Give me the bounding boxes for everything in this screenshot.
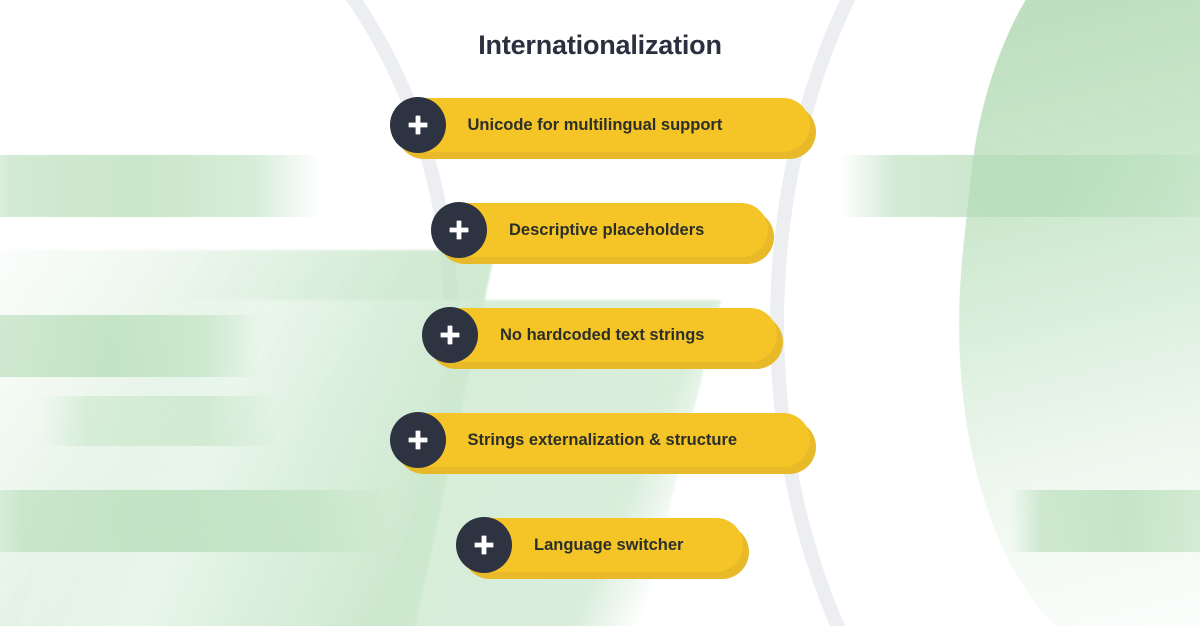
feature-label: No hardcoded text strings: [478, 326, 714, 345]
plus-icon[interactable]: [422, 307, 478, 363]
feature-pill-5[interactable]: Language switcher: [457, 518, 743, 572]
feature-pill-2[interactable]: Descriptive placeholders: [432, 203, 768, 257]
feature-pill-3[interactable]: No hardcoded text strings: [423, 308, 777, 362]
feature-list: Unicode for multilingual support: [0, 98, 1200, 623]
feature-label: Strings externalization & structure: [446, 431, 748, 450]
pill-body[interactable]: Unicode for multilingual support: [391, 98, 810, 152]
feature-label: Descriptive placeholders: [487, 221, 714, 240]
list-item: Language switcher: [0, 518, 1200, 623]
pill-body[interactable]: Language switcher: [457, 518, 743, 572]
feature-pill-4[interactable]: Strings externalization & structure: [391, 413, 810, 467]
infographic-slide: Internationalization Unicode for multili…: [0, 0, 1200, 626]
list-item: No hardcoded text strings: [0, 308, 1200, 413]
feature-label: Language switcher: [512, 536, 693, 555]
plus-icon[interactable]: [390, 412, 446, 468]
pill-body[interactable]: Strings externalization & structure: [391, 413, 810, 467]
feature-pill-1[interactable]: Unicode for multilingual support: [391, 98, 810, 152]
list-item: Strings externalization & structure: [0, 413, 1200, 518]
plus-icon[interactable]: [456, 517, 512, 573]
feature-label: Unicode for multilingual support: [446, 116, 733, 135]
plus-icon[interactable]: [390, 97, 446, 153]
list-item: Unicode for multilingual support: [0, 98, 1200, 203]
slide-content: Internationalization Unicode for multili…: [0, 0, 1200, 626]
pill-body[interactable]: Descriptive placeholders: [432, 203, 768, 257]
page-title: Internationalization: [0, 30, 1200, 61]
plus-icon[interactable]: [431, 202, 487, 258]
pill-body[interactable]: No hardcoded text strings: [423, 308, 777, 362]
list-item: Descriptive placeholders: [0, 203, 1200, 308]
